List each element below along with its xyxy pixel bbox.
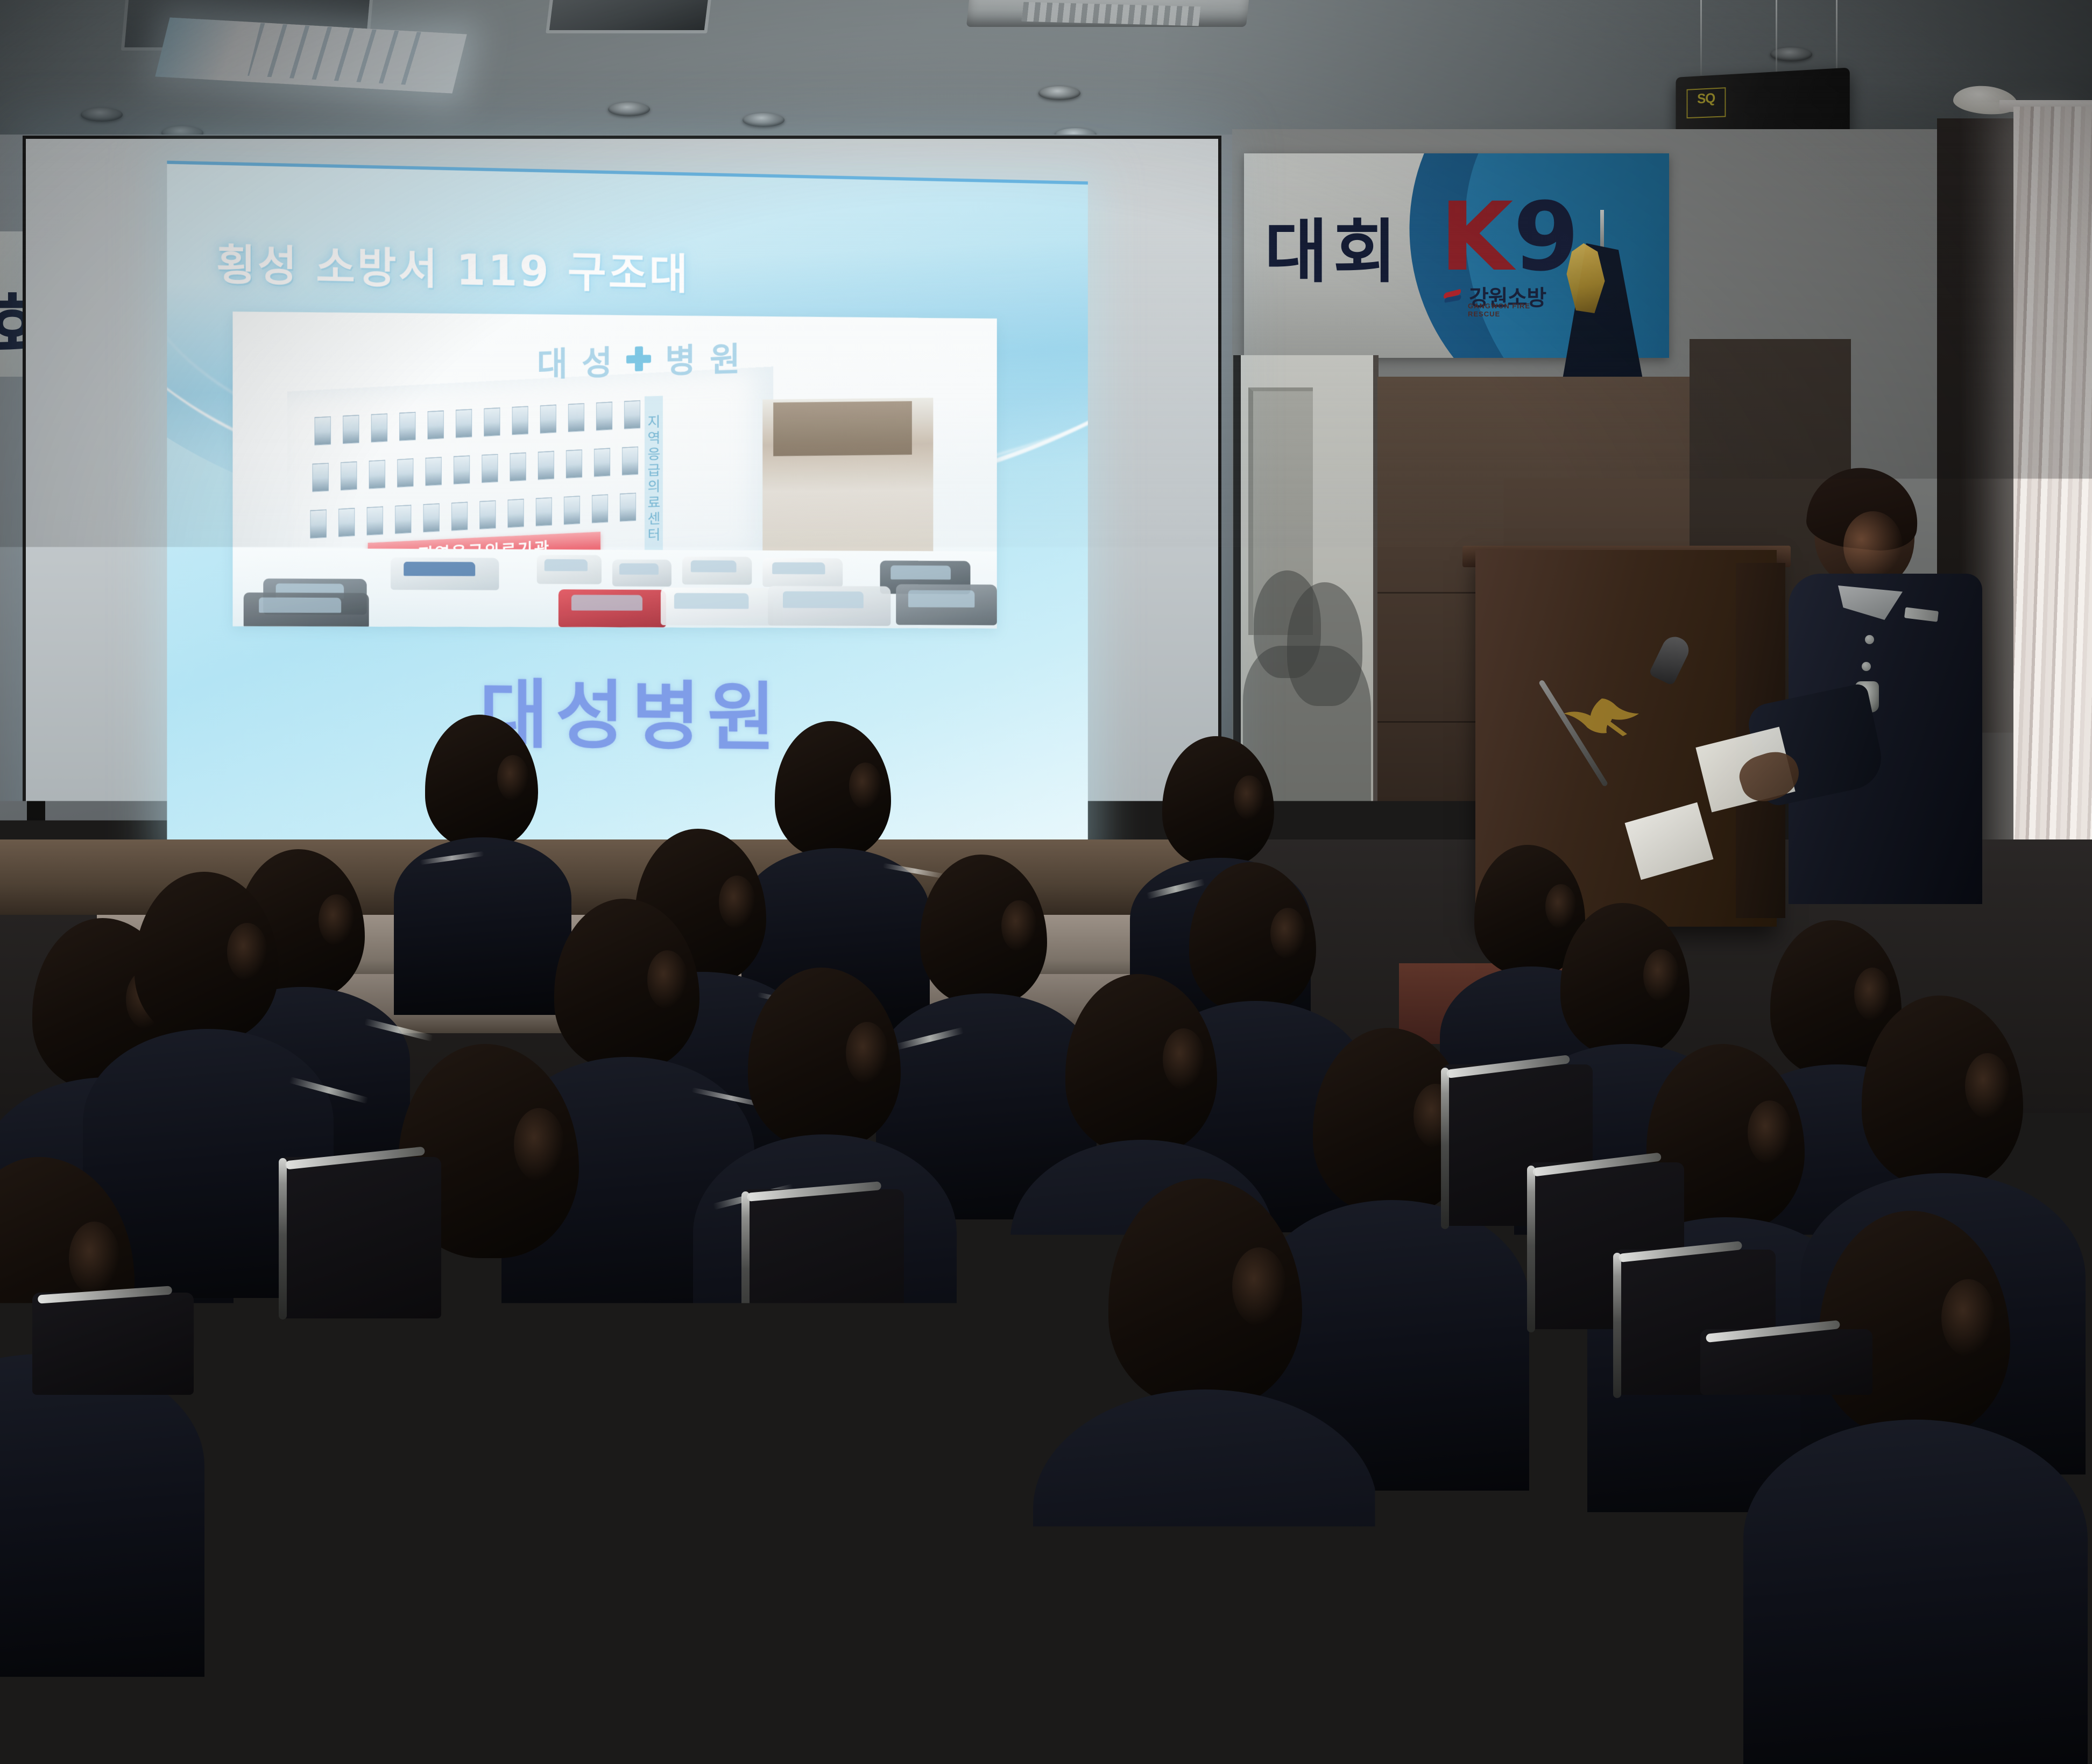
audience-head (1560, 903, 1690, 1057)
slide-photo: 대 성 병 원 지역응급의료센터 지역응급의료기관 (232, 312, 996, 629)
chair-back (32, 1293, 194, 1395)
audience-section (0, 619, 2092, 1395)
parked-car (612, 560, 672, 587)
parked-car (762, 558, 843, 587)
chair-frame (1613, 1253, 1621, 1398)
slide-title: 횡성 소방서 119 구조대 (216, 231, 690, 301)
k9-logo-k: K (1440, 182, 1513, 292)
chair-frame (1527, 1166, 1535, 1332)
rooftop-sign-char-4: 원 (710, 332, 740, 381)
presenter-face (1843, 511, 1903, 581)
parked-emergency-vehicle (391, 558, 499, 590)
gangwon-fire-logo: 강원소방 GANGWON FIRE RESCUE (1443, 280, 1546, 312)
hospital-parking-lot (232, 548, 996, 628)
audience-shoulders (0, 1354, 204, 1677)
k9-logo: K9 (1440, 190, 1579, 285)
rooftop-sign-char-2: 성 (582, 335, 612, 385)
rooftop-sign-char-1: 대 (537, 336, 568, 386)
audience-shoulders (1743, 1420, 2088, 1764)
conference-hall-scene: SQ 회 대회 K9 강원소방 GANGWON FIRE RESCUE (0, 0, 2092, 1395)
audience-head (1162, 736, 1274, 867)
banner-headline: 대회 (1264, 218, 1402, 287)
chair-frame (741, 1191, 750, 1353)
fire-service-mark-icon (1443, 289, 1466, 303)
chair-frame (1441, 1068, 1449, 1229)
medical-cross-icon (626, 346, 651, 371)
hospital-rooftop-sign: 대 성 병 원 (537, 332, 740, 386)
parked-car (682, 556, 752, 584)
hospital-annex-facade (773, 401, 912, 456)
audience-head (775, 721, 891, 859)
gangwon-fire-logo-en: GANGWON FIRE RESCUE (1468, 302, 1546, 318)
audience-head (425, 715, 538, 849)
rooftop-sign-char-3: 병 (665, 333, 696, 382)
parked-car (537, 555, 602, 584)
audience-shoulders (1033, 1389, 1377, 1734)
speaker-brand-badge: SQ (1687, 87, 1726, 118)
chair-back (958, 1302, 1119, 1395)
speaker-hanging-wire (1836, 0, 1837, 75)
chair-back (280, 1157, 441, 1318)
audience-head (920, 855, 1047, 1006)
chair-back (743, 1189, 904, 1351)
chair-frame (279, 1158, 287, 1320)
hospital-vertical-sign: 지역응급의료센터 (645, 396, 663, 558)
speaker-hanging-wire (1776, 0, 1777, 75)
speaker-hanging-wire (1700, 0, 1702, 75)
audience-head (1189, 862, 1316, 1014)
audience-head (1862, 996, 2023, 1188)
